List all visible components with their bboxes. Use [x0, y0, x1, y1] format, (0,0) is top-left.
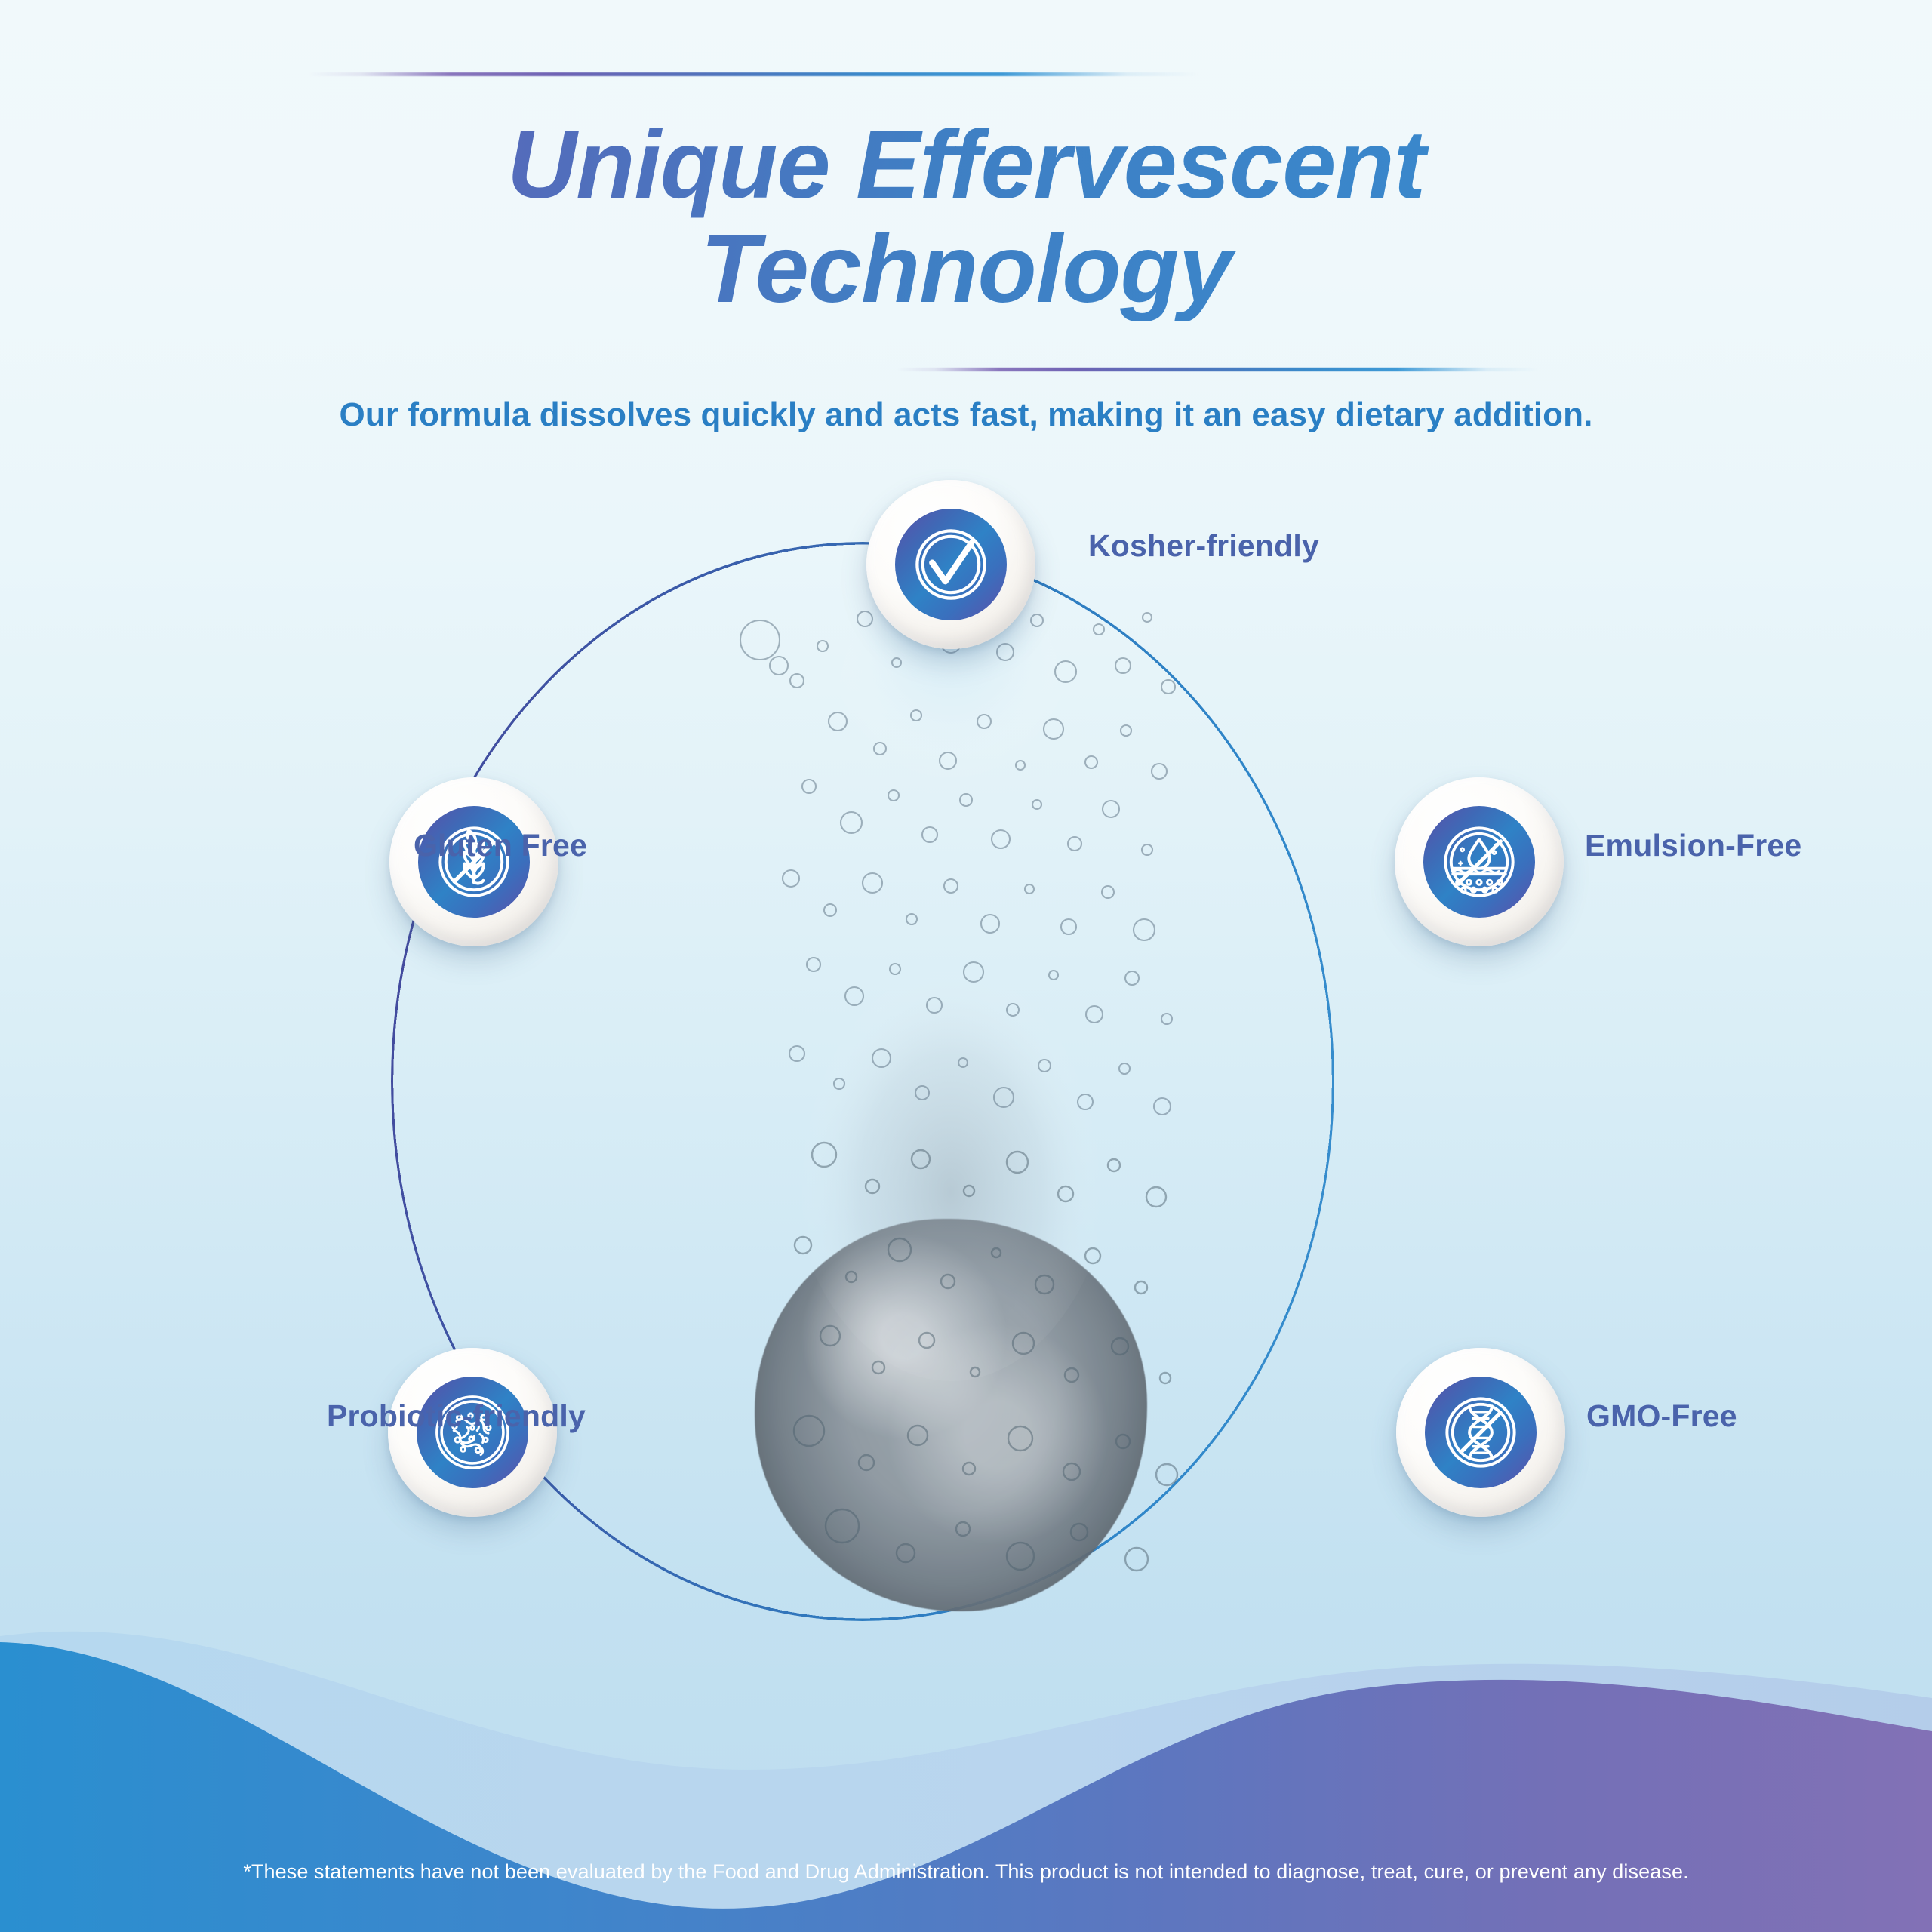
badge-emulsion-free[interactable]: [1395, 777, 1564, 946]
disc-emulsion: [1423, 806, 1535, 918]
no-droplet-skin-icon: [1432, 815, 1526, 909]
badge-kosher-friendly[interactable]: [866, 480, 1035, 649]
footer-wave-decoration: [0, 1615, 1932, 1932]
effervescent-tablet: [755, 1219, 1147, 1611]
disc-gmo: [1425, 1377, 1537, 1488]
badge-label-gmo-free: GMO-Free: [1586, 1398, 1737, 1434]
badge-gmo-free[interactable]: [1396, 1348, 1565, 1517]
badge-label-gluten-free: Gluten Free: [414, 828, 587, 863]
no-dna-icon: [1434, 1386, 1527, 1479]
check-circle-icon: [904, 518, 998, 611]
badge-label-emulsion-free: Emulsion-Free: [1585, 828, 1801, 863]
fda-disclaimer: *These statements have not been evaluate…: [0, 1860, 1932, 1884]
badge-label-probiotic-friendly: Probiotic-friendly: [327, 1398, 586, 1434]
disc-kosher: [895, 509, 1007, 620]
badge-label-kosher-friendly: Kosher-friendly: [1088, 528, 1319, 564]
